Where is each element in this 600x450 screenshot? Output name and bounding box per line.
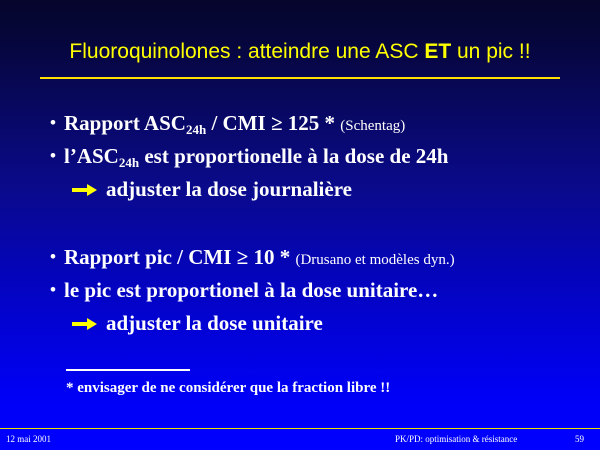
- bullet-text-part-b: / CMI ≥ 125 *: [206, 111, 340, 135]
- footnote-text: * envisager de ne considérer que la frac…: [66, 380, 390, 397]
- arrow-item: adjuster la dose unitaire: [0, 308, 600, 338]
- bullet-text: Rapport ASC24h / CMI ≥ 125 * (Schentag): [64, 111, 405, 135]
- subscript: 24h: [119, 155, 139, 170]
- right-arrow-icon: [72, 317, 98, 331]
- citation-note: (Schentag): [340, 118, 405, 134]
- bullet-text-part-a: le pic est proportionel à la dose unitai…: [64, 278, 438, 302]
- title-divider: [40, 77, 560, 79]
- bullet-text: le pic est proportionel à la dose unitai…: [64, 278, 438, 302]
- bullet-text-part-a: Rapport pic / CMI: [64, 245, 237, 269]
- slide-title: Fluoroquinolones : atteindre une ASC ET …: [0, 40, 600, 64]
- bullet-block-pic: Rapport pic / CMI ≥ 10 * (Drusano et mod…: [0, 242, 600, 338]
- bullet-text-part-b: est proportionelle à la dose de 24h: [139, 144, 448, 168]
- slide-title-emphasis: ET: [424, 40, 451, 63]
- bullet-text: l’ASC24h est proportionelle à la dose de…: [64, 144, 448, 168]
- footer-divider: [0, 428, 600, 429]
- bullet-item: Rapport pic / CMI ≥ 10 * (Drusano et mod…: [0, 242, 600, 275]
- bullet-text-part-a: Rapport ASC: [64, 111, 186, 135]
- bullet-text-part-b: ≥ 10 *: [237, 245, 296, 269]
- footer-title: PK/PD: optimisation & résistance: [395, 434, 517, 444]
- footer-date: 12 mai 2001: [6, 434, 51, 444]
- bullet-item: le pic est proportionel à la dose unitai…: [0, 275, 600, 308]
- citation-note: (Drusano et modèles dyn.): [295, 252, 454, 268]
- arrow-text: adjuster la dose unitaire: [106, 311, 323, 335]
- presentation-slide: Fluoroquinolones : atteindre une ASC ET …: [0, 0, 600, 450]
- arrow-item: adjuster la dose journalière: [0, 174, 600, 204]
- block-spacer: [0, 204, 600, 242]
- bullet-text: Rapport pic / CMI ≥ 10 * (Drusano et mod…: [64, 245, 455, 269]
- right-arrow-icon: [72, 183, 98, 197]
- slide-body: Rapport ASC24h / CMI ≥ 125 * (Schentag) …: [0, 108, 600, 338]
- slide-footer: 12 mai 2001 PK/PD: optimisation & résist…: [0, 431, 600, 450]
- bullet-item: l’ASC24h est proportionelle à la dose de…: [0, 141, 600, 174]
- subscript: 24h: [186, 122, 206, 137]
- footnote-divider: [66, 369, 190, 371]
- slide-title-prefix: Fluoroquinolones : atteindre une ASC: [69, 40, 424, 63]
- bullet-item: Rapport ASC24h / CMI ≥ 125 * (Schentag): [0, 108, 600, 141]
- bullet-block-asc: Rapport ASC24h / CMI ≥ 125 * (Schentag) …: [0, 108, 600, 204]
- footer-page-number: 59: [575, 434, 584, 444]
- bullet-text-part-a: l’ASC: [64, 144, 119, 168]
- slide-title-suffix: un pic !!: [451, 40, 530, 63]
- arrow-text: adjuster la dose journalière: [106, 177, 352, 201]
